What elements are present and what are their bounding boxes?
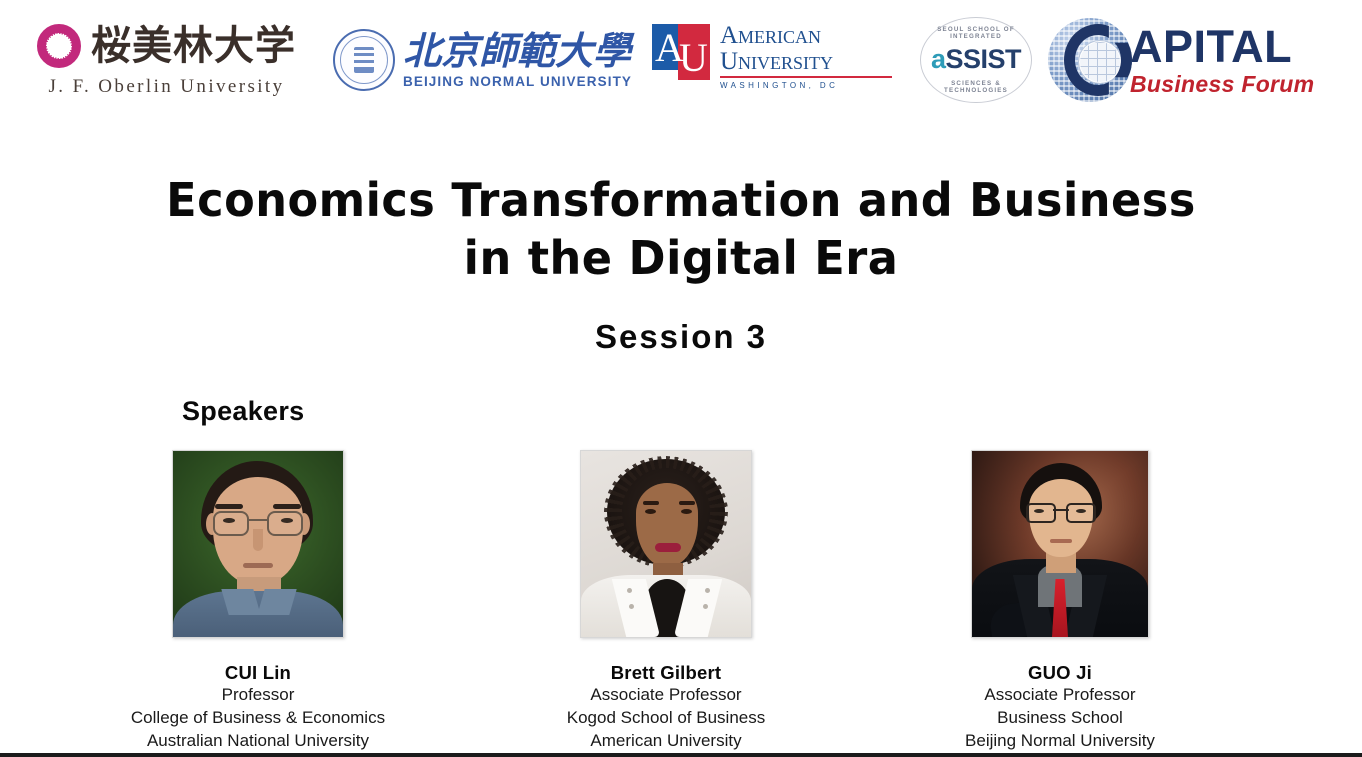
au-sublabel: WASHINGTON, DC <box>720 81 892 90</box>
slide-title-line-2: in the Digital Era <box>20 230 1341 288</box>
capital-tagline: Business Forum <box>1130 73 1314 96</box>
speakers-heading: Speakers <box>182 396 305 427</box>
speaker-department: Kogod School of Business <box>567 707 765 730</box>
au-monogram-icon: AU <box>652 22 714 84</box>
speaker-department: Business School <box>997 707 1123 730</box>
bnu-text-block: 北京師範大學 BEIJING NORMAL UNIVERSITY <box>403 32 632 89</box>
bottom-divider <box>0 753 1362 757</box>
au-text-block: American University WASHINGTON, DC <box>720 22 892 90</box>
bnu-chinese-name: 北京師範大學 <box>403 32 632 70</box>
logo-beijing-normal-university: 北京師範大學 BEIJING NORMAL UNIVERSITY <box>333 20 623 100</box>
speakers-row: CUI Lin Professor College of Business & … <box>0 450 1362 750</box>
speaker-photo-guo-ji <box>971 450 1149 638</box>
bnu-seal-icon <box>333 29 395 91</box>
assist-wordmark-rest: SSIST <box>946 44 1022 74</box>
speaker-institution: Australian National University <box>147 730 369 753</box>
speaker-card-guo-ji: GUO Ji Associate Professor Business Scho… <box>890 450 1230 753</box>
speaker-photo-cui-lin <box>172 450 344 638</box>
capital-wordmark: APITAL <box>1130 24 1314 69</box>
speaker-name: GUO Ji <box>1028 662 1092 684</box>
assist-wordmark: aSSIST <box>920 46 1032 73</box>
logo-capital-business-forum: APITAL Business Forum <box>1048 16 1348 104</box>
speaker-department: College of Business & Economics <box>131 707 385 730</box>
speaker-rank: Associate Professor <box>590 684 741 707</box>
logo-jf-oberlin-university: 桜美林大学 J. F. Oberlin University <box>14 20 319 100</box>
sponsor-logo-bar: 桜美林大学 J. F. Oberlin University 北京師範大學 BE… <box>0 0 1362 118</box>
speaker-photo-brett-gilbert <box>580 450 752 638</box>
speaker-name: CUI Lin <box>225 662 291 684</box>
capital-globe-icon <box>1048 18 1132 102</box>
logo-assist: SEOUL SCHOOL OF INTEGRATED aSSIST SCIENC… <box>920 17 1032 103</box>
au-name-line-2: University <box>720 49 892 75</box>
speaker-name: Brett Gilbert <box>611 662 722 684</box>
oberlin-japanese-name: 桜美林大学 <box>91 26 296 66</box>
assist-arc-top-text: SEOUL SCHOOL OF INTEGRATED <box>920 26 1032 40</box>
capital-text-block: APITAL Business Forum <box>1130 24 1314 96</box>
speaker-rank: Professor <box>222 684 295 707</box>
session-label: Session 3 <box>0 318 1362 356</box>
speaker-card-brett-gilbert: Brett Gilbert Associate Professor Kogod … <box>496 450 836 753</box>
slide-title: Economics Transformation and Business in… <box>20 172 1341 288</box>
au-red-rule <box>720 76 892 78</box>
cherry-blossom-ring-icon <box>37 24 81 68</box>
au-name-line-1: American <box>720 23 892 49</box>
oberlin-logo-row: 桜美林大学 <box>37 20 296 72</box>
logo-american-university: AU American University WASHINGTON, DC <box>652 22 897 100</box>
assist-arc-bottom-text: SCIENCES & TECHNOLOGIES <box>920 80 1032 94</box>
oberlin-english-name: J. F. Oberlin University <box>48 76 284 98</box>
speaker-institution: American University <box>590 730 741 753</box>
speaker-card-cui-lin: CUI Lin Professor College of Business & … <box>88 450 428 753</box>
slide-title-line-1: Economics Transformation and Business <box>20 172 1341 230</box>
assist-wordmark-a: a <box>931 44 946 74</box>
bnu-english-name: BEIJING NORMAL UNIVERSITY <box>403 74 632 89</box>
speaker-rank: Associate Professor <box>984 684 1135 707</box>
speaker-institution: Beijing Normal University <box>965 730 1155 753</box>
